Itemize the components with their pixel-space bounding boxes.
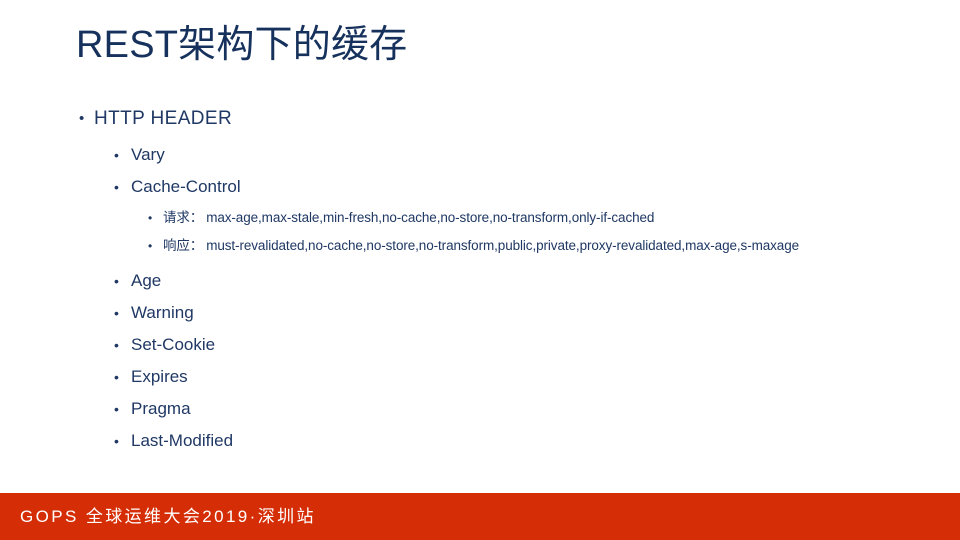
bullet-item-set-cookie: • Set-Cookie [0, 329, 960, 361]
footer-bar: GOPS 全球运维大会2019·深圳站 [0, 493, 960, 540]
bullet-label: Age [131, 265, 960, 297]
request-label: 请求： [163, 210, 203, 225]
bullet-marker-icon: • [114, 139, 131, 171]
bullet-item-http-header: • HTTP HEADER [0, 104, 960, 134]
request-directives-text: 请求：max-age,max-stale,min-fresh,no-cache,… [163, 207, 888, 229]
response-label: 响应： [163, 238, 203, 253]
response-value: must-revalidated,no-cache,no-store,no-tr… [206, 238, 799, 253]
request-value: max-age,max-stale,min-fresh,no-cache,no-… [206, 210, 654, 225]
bullet-label: Set-Cookie [131, 329, 960, 361]
bullet-item-response-directives: • 响应：must-revalidated,no-cache,no-store,… [0, 235, 960, 257]
bullet-item-age: • Age [0, 265, 960, 297]
bullet-marker-icon: • [79, 104, 94, 134]
slide-body: • HTTP HEADER • Vary • Cache-Control • 请… [0, 104, 960, 457]
bullet-label: HTTP HEADER [94, 104, 960, 134]
bullet-item-last-modified: • Last-Modified [0, 425, 960, 457]
bullet-item-expires: • Expires [0, 361, 960, 393]
bullet-item-cache-control: • Cache-Control [0, 171, 960, 203]
page-title: REST架构下的缓存 [76, 22, 407, 68]
bullet-marker-icon: • [114, 329, 131, 361]
bullet-marker-icon: • [114, 393, 131, 425]
response-directives-text: 响应：must-revalidated,no-cache,no-store,no… [163, 235, 888, 257]
bullet-item-pragma: • Pragma [0, 393, 960, 425]
bullet-label: Expires [131, 361, 960, 393]
bullet-label: Warning [131, 297, 960, 329]
bullet-marker-icon: • [114, 297, 131, 329]
bullet-label: Last-Modified [131, 425, 960, 457]
bullet-item-warning: • Warning [0, 297, 960, 329]
bullet-marker-icon: • [114, 425, 131, 457]
bullet-marker-icon: • [148, 207, 163, 229]
bullet-label: Vary [131, 139, 960, 171]
slide: REST架构下的缓存 • HTTP HEADER • Vary • Cache-… [0, 0, 960, 540]
bullet-label: Pragma [131, 393, 960, 425]
bullet-marker-icon: • [114, 265, 131, 297]
bullet-marker-icon: • [114, 361, 131, 393]
bullet-item-vary: • Vary [0, 139, 960, 171]
bullet-marker-icon: • [148, 235, 163, 257]
bullet-marker-icon: • [114, 171, 131, 203]
bullet-label: Cache-Control [131, 171, 960, 203]
footer-branding: GOPS 全球运维大会2019·深圳站 [20, 493, 316, 540]
bullet-item-request-directives: • 请求：max-age,max-stale,min-fresh,no-cach… [0, 207, 960, 229]
